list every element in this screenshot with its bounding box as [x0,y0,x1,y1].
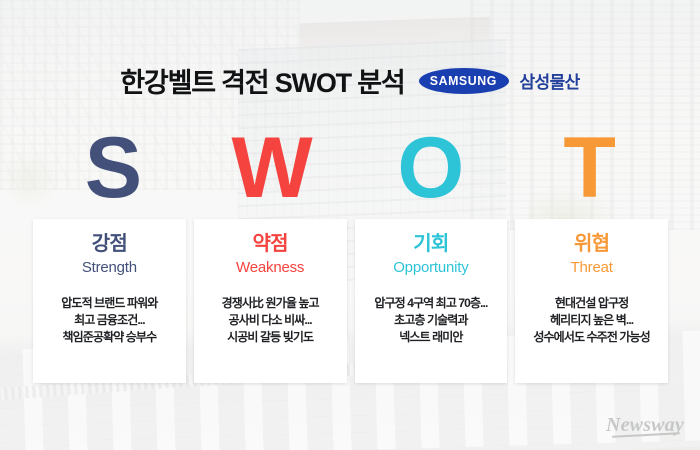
swot-letter-t: T [509,118,668,218]
card-title-korean: 약점 [253,232,288,257]
samsung-logo-text: SAMSUNG [430,73,497,88]
swot-letter-s: S [33,118,192,218]
card-title-english: Strength [82,258,137,278]
swot-card-weakness: 약점 Weakness 경쟁사比 원가율 높고 공사비 다소 비싸... 시공비… [194,219,347,383]
card-body-line: 현대건설 압구정 [533,295,649,312]
swot-card-strength: 강점 Strength 압도적 브랜드 파워와 최고 금융조건... 책임준공확… [33,219,186,383]
card-title-korean: 강점 [92,232,127,257]
swot-card-opportunity: 기회 Opportunity 압구정 4구역 최고 70층... 초고층 기술력… [355,219,508,383]
card-body-text: 압도적 브랜드 파워와 최고 금융조건... 책임준공확약 승부수 [61,295,157,346]
card-title-english: Opportunity [393,258,468,278]
card-title-korean: 위협 [574,232,609,257]
swot-letter-row: S W O T [33,118,668,218]
poster-header: 한강벨트 격전 SWOT 분석 SAMSUNG 삼성물산 [0,61,700,100]
card-title-korean: 기회 [413,232,448,257]
swot-card-threat: 위협 Threat 현대건설 압구정 헤리티지 높은 벽... 성수에서도 수주… [515,219,668,383]
card-body-line: 넥스트 래미안 [374,329,487,346]
card-body-line: 압구정 4구역 최고 70층... [374,295,487,312]
samsung-logo: SAMSUNG [419,68,509,94]
card-body-line: 시공비 갈등 빚기도 [222,329,319,346]
card-body-line: 경쟁사比 원가율 높고 [222,295,319,312]
brand-name-korean: 삼성물산 [520,68,580,93]
card-body-line: 헤리티지 높은 벽... [533,312,649,329]
card-body-line: 초고층 기술력과 [374,312,487,329]
swot-infographic-poster: 한강벨트 격전 SWOT 분석 SAMSUNG 삼성물산 S W O T 강점 … [0,0,700,450]
card-title-english: Threat [571,258,613,278]
swot-letter-w: W [192,118,351,218]
swot-card-row: 강점 Strength 압도적 브랜드 파워와 최고 금융조건... 책임준공확… [33,219,668,383]
page-title: 한강벨트 격전 SWOT 분석 [120,61,404,100]
card-body-text: 경쟁사比 원가율 높고 공사비 다소 비싸... 시공비 갈등 빚기도 [222,295,319,346]
card-body-line: 공사비 다소 비싸... [222,312,319,329]
newsway-watermark: Newsway [606,414,684,436]
card-body-line: 책임준공확약 승부수 [61,329,157,346]
card-body-text: 현대건설 압구정 헤리티지 높은 벽... 성수에서도 수주전 가능성 [533,295,649,346]
card-body-text: 압구정 4구역 최고 70층... 초고층 기술력과 넥스트 래미안 [374,295,487,346]
card-body-line: 성수에서도 수주전 가능성 [533,329,649,346]
card-body-line: 최고 금융조건... [61,312,157,329]
card-title-english: Weakness [236,258,304,278]
swot-letter-o: O [351,118,510,218]
card-body-line: 압도적 브랜드 파워와 [61,295,157,312]
brand-lockup: SAMSUNG 삼성물산 [419,68,580,94]
